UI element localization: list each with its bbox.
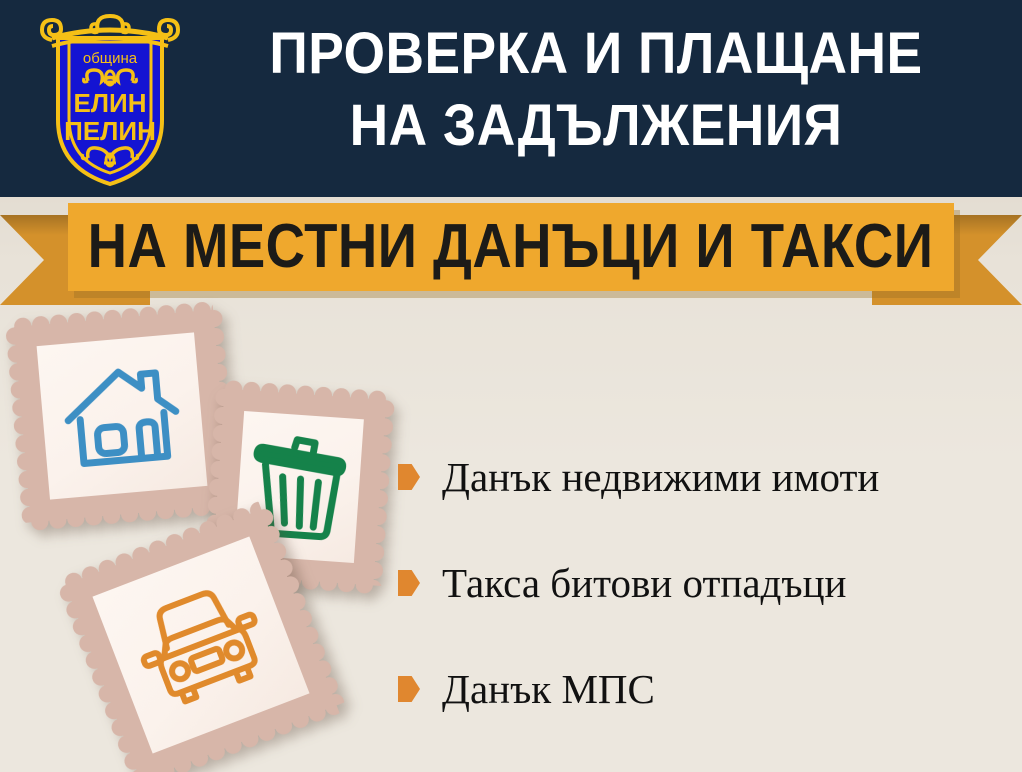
arrow-bullet-icon <box>398 464 420 490</box>
stamp-paper <box>37 332 208 499</box>
list-item[interactable]: Такса битови отпадъци <box>398 530 1010 636</box>
page-header: община ЕЛИН ПЕЛИН ПРОВЕРКА И ПЛАЩАНЕ НА … <box>0 0 1022 197</box>
ribbon-band: НА МЕСТНИ ДАНЪЦИ И ТАКСИ <box>68 203 954 291</box>
svg-text:ЕЛИН: ЕЛИН <box>73 88 146 118</box>
stamp-scallop-left <box>5 326 40 523</box>
ribbon-label: НА МЕСТНИ ДАНЪЦИ И ТАКСИ <box>88 216 934 278</box>
list-item-label: Данък МПС <box>442 666 655 712</box>
list-item-label: Данък недвижими имоти <box>442 454 879 500</box>
page-title: ПРОВЕРКА И ПЛАЩАНЕ НА ЗАДЪЛЖЕНИЯ <box>190 18 1002 162</box>
page-title-line-2: НА ЗАДЪЛЖЕНИЯ <box>222 90 969 162</box>
list-item-label: Такса битови отпадъци <box>442 560 846 606</box>
list-item[interactable]: Данък недвижими имоти <box>398 424 1010 530</box>
house-icon <box>57 355 186 477</box>
page-title-line-1: ПРОВЕРКА И ПЛАЩАНЕ <box>222 18 969 90</box>
stamp-scallop-right <box>364 399 395 586</box>
municipality-logo: община ЕЛИН ПЕЛИН <box>36 8 184 188</box>
list-item[interactable]: Данък МПС <box>398 636 1010 742</box>
svg-text:община: община <box>83 50 138 67</box>
svg-text:ПЕЛИН: ПЕЛИН <box>64 116 156 146</box>
subtitle-ribbon: НА МЕСТНИ ДАНЪЦИ И ТАКСИ <box>0 197 1022 307</box>
stamp-card-property <box>14 310 230 523</box>
tax-type-list: Данък недвижими имоти Такса битови отпад… <box>398 424 1010 742</box>
coat-of-arms-icon: община ЕЛИН ПЕЛИН <box>36 8 184 188</box>
car-front-icon <box>123 573 279 717</box>
arrow-bullet-icon <box>398 570 420 596</box>
arrow-bullet-icon <box>398 676 420 702</box>
